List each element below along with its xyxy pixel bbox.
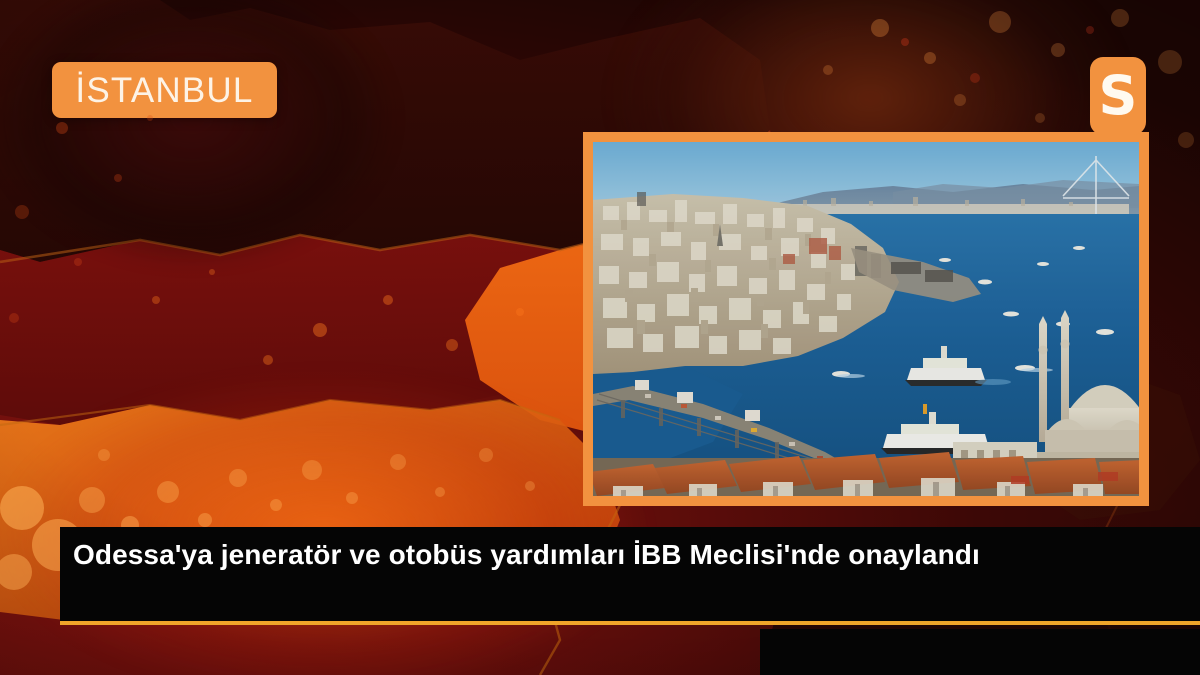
footer-black-block xyxy=(760,629,1200,675)
brand-logo-letter: S xyxy=(1099,69,1138,123)
headline-bar: Odessa'ya jeneratör ve otobüs yardımları… xyxy=(60,527,1200,625)
headline-title: Odessa'ya jeneratör ve otobüs yardımları… xyxy=(73,537,1180,572)
istanbul-photo xyxy=(593,142,1139,496)
brand-logo[interactable]: S xyxy=(1090,57,1146,135)
photo-frame xyxy=(583,132,1149,506)
istanbul-photo-illustration xyxy=(593,142,1139,496)
news-card: İSTANBUL xyxy=(0,0,1200,675)
